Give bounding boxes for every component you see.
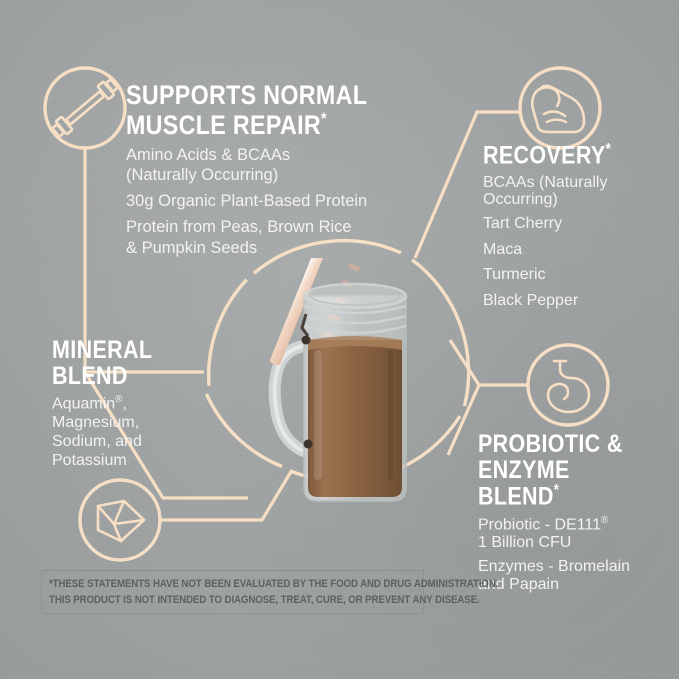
recovery-heading: RECOVERY*: [483, 142, 646, 169]
registered-mark: ®: [601, 515, 608, 526]
mineral-blend-details: Aquamin®, Magnesium, Sodium, and Potassi…: [52, 394, 232, 471]
detail-line: 30g Organic Plant-Based Protein: [126, 191, 446, 211]
muscle-repair-details: Amino Acids & BCAAs (Naturally Occurring…: [126, 145, 446, 258]
fda-disclaimer-box: *THESE STATEMENTS HAVE NOT BEEN EVALUATE…: [41, 570, 424, 614]
detail-line: Aquamin®,: [52, 394, 232, 414]
mason-jar-protein-shake: [268, 258, 428, 518]
mineral-blend-heading: MINERAL BLEND: [52, 338, 207, 389]
section-probiotic-enzyme-blend: PROBIOTIC &ENZYME BLEND* Probiotic - DE1…: [478, 432, 678, 601]
detail-line: Sodium, and: [52, 433, 232, 452]
detail-line: Turmeric: [483, 265, 673, 285]
section-mineral-blend: MINERAL BLEND Aquamin®, Magnesium, Sodiu…: [52, 338, 232, 471]
muscle-repair-heading: SUPPORTS NORMAL MUSCLE REPAIR*: [126, 82, 401, 139]
detail-line: Amino Acids & BCAAs (Naturally Occurring…: [126, 145, 446, 185]
detail-line: Tart Cherry: [483, 214, 673, 234]
detail-line: Probiotic - DE111®1 Billion CFU: [478, 516, 678, 552]
asterisk-marker: *: [554, 482, 560, 499]
probiotic-enzyme-details: Probiotic - DE111®1 Billion CFU Enzymes …: [478, 516, 678, 594]
detail-line: BCAAs (Naturally Occurring): [483, 174, 673, 209]
detail-line: Maca: [483, 240, 673, 260]
gem-crystal-icon: [80, 480, 160, 560]
detail-line: Potassium: [52, 452, 232, 471]
stomach-icon: [528, 345, 608, 425]
flexed-bicep-icon: [520, 68, 600, 148]
dumbbell-icon: [45, 68, 125, 148]
asterisk-marker: *: [606, 141, 612, 158]
disclaimer-line-2: THIS PRODUCT IS NOT INTENDED TO DIAGNOSE…: [49, 593, 372, 609]
detail-line: Protein from Peas, Brown Rice & Pumpkin …: [126, 217, 446, 257]
detail-line: Black Pepper: [483, 291, 673, 311]
detail-line: Enzymes - Bromelain and Papain: [478, 558, 678, 593]
recovery-details: BCAAs (Naturally Occurring) Tart Cherry …: [483, 174, 673, 311]
jar-body: [304, 296, 406, 501]
probiotic-enzyme-heading: PROBIOTIC &ENZYME BLEND*: [478, 432, 650, 510]
infographic-canvas: .ln { fill: none; stroke: #f6dfc4; strok…: [0, 0, 679, 679]
section-muscle-repair: SUPPORTS NORMAL MUSCLE REPAIR* Amino Aci…: [126, 82, 446, 264]
asterisk-marker: *: [321, 109, 327, 128]
detail-line: Magnesium,: [52, 414, 232, 433]
disclaimer-line-1: *THESE STATEMENTS HAVE NOT BEEN EVALUATE…: [49, 577, 372, 593]
section-recovery: RECOVERY* BCAAs (Naturally Occurring) Ta…: [483, 142, 673, 316]
